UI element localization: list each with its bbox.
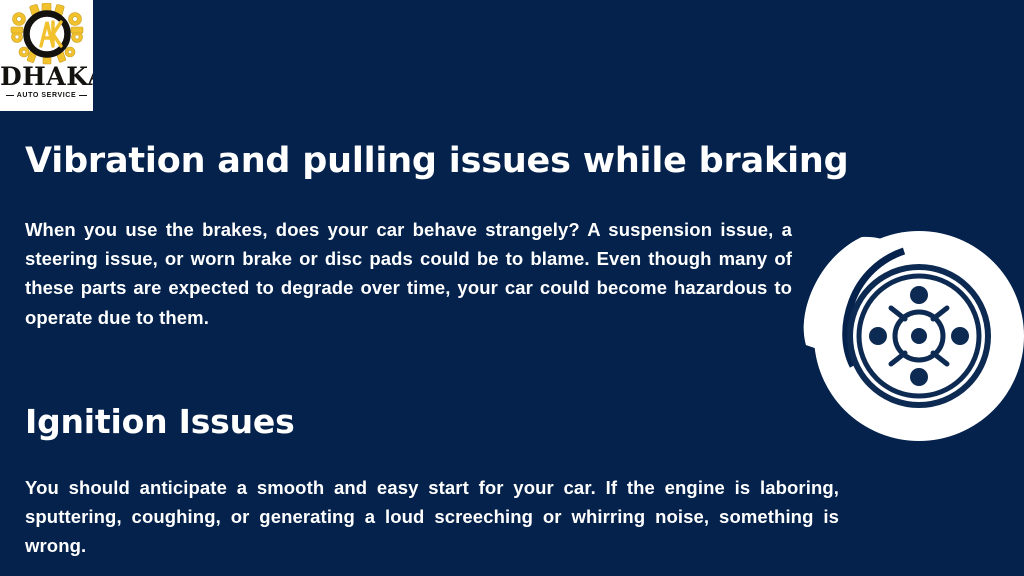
brake-disc-rotor-with-caliper-icon [792, 224, 1024, 446]
brand-logo: DHAKA AUTO SERVICE [0, 0, 93, 111]
logo-tagline: AUTO SERVICE [17, 92, 76, 99]
heading-braking-issues: Vibration and pulling issues while braki… [25, 143, 848, 180]
logo-tagline-row: AUTO SERVICE [6, 92, 87, 99]
auto-service-gear-emblem-icon [9, 3, 85, 65]
logo-rule-right [79, 95, 87, 96]
paragraph-braking-issues: When you use the brakes, does your car b… [25, 215, 792, 333]
paragraph-ignition-issues: You should anticipate a smooth and easy … [25, 473, 839, 561]
slide-canvas: DHAKA AUTO SERVICE Vibration and pulling… [0, 0, 1024, 576]
logo-wordmark: DHAKA [0, 64, 93, 89]
logo-rule-left [6, 95, 14, 96]
heading-ignition-issues: Ignition Issues [25, 405, 295, 440]
